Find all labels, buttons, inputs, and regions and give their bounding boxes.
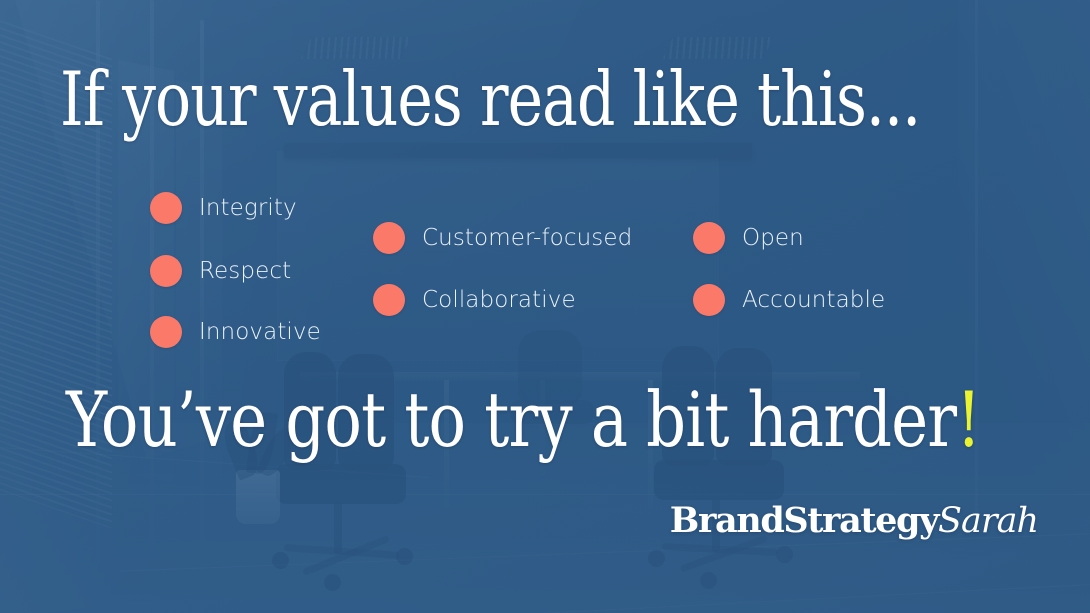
subheadline: You’ve got to try a bit harder! [66, 382, 981, 458]
subheadline-text: You’ve got to try a bit harder [66, 375, 956, 464]
value-label: Integrity [199, 195, 297, 221]
value-label: Collaborative [422, 287, 576, 313]
bullet-dot-icon [373, 284, 405, 316]
value-item: Collaborative [373, 284, 576, 316]
value-label: Respect [199, 258, 291, 284]
value-item: Respect [150, 255, 291, 287]
bullet-dot-icon [693, 222, 725, 254]
slide-canvas: If your values read like this... Integri… [0, 0, 1090, 613]
bullet-dot-icon [693, 284, 725, 316]
logo-name-text: Sarah [938, 501, 1038, 541]
bullet-dot-icon [150, 316, 182, 348]
value-item: Open [693, 222, 804, 254]
logo-brand-text: BrandStrategy [670, 500, 938, 541]
value-item: Innovative [150, 316, 321, 348]
value-item: Customer-focused [373, 222, 632, 254]
headline: If your values read like this... [60, 62, 828, 137]
values-list: Integrity Respect Innovative Customer-fo… [150, 192, 1050, 352]
bullet-dot-icon [150, 255, 182, 287]
exclamation-mark: ! [956, 375, 980, 464]
value-label: Accountable [742, 287, 885, 313]
value-label: Open [742, 225, 804, 251]
bullet-dot-icon [150, 192, 182, 224]
value-item: Accountable [693, 284, 885, 316]
value-label: Innovative [199, 319, 321, 345]
slide-content: If your values read like this... Integri… [0, 0, 1090, 613]
value-label: Customer-focused [422, 225, 632, 251]
logo: BrandStrategySarah [670, 500, 1038, 541]
bullet-dot-icon [373, 222, 405, 254]
value-item: Integrity [150, 192, 297, 224]
